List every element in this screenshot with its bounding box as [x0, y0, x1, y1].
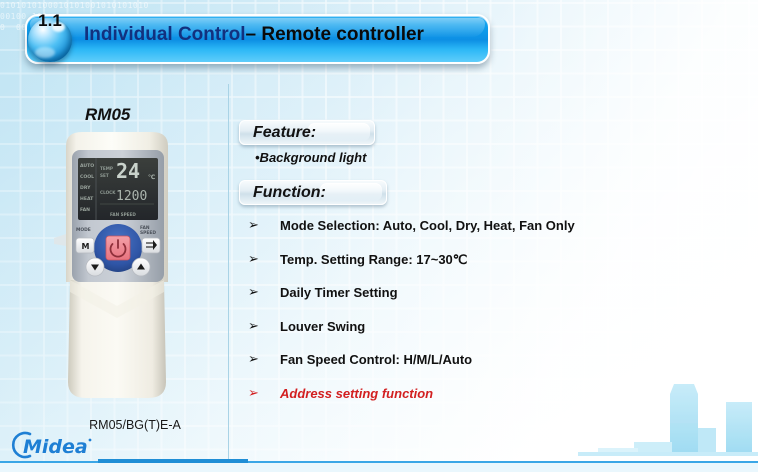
- svg-text:AUTO: AUTO: [80, 163, 94, 169]
- product-title: RM05: [85, 105, 130, 125]
- pill-gloss-highlight: [308, 123, 370, 141]
- page-title-secondary: – Remote controller: [246, 24, 424, 45]
- page-title-primary: Individual Control: [84, 24, 246, 45]
- function-list-item-label: Address setting function: [280, 386, 433, 402]
- feature-item: •Background light: [255, 150, 366, 165]
- svg-text:SET: SET: [100, 173, 109, 178]
- arrow-bullet-icon: ➢: [248, 285, 280, 301]
- slide-number: 1.1: [28, 11, 72, 31]
- column-divider: [228, 84, 229, 472]
- svg-text:TEMP: TEMP: [100, 166, 113, 171]
- function-list-item: ➢Mode Selection: Auto, Cool, Dry, Heat, …: [248, 218, 678, 252]
- function-list-item-label: Fan Speed Control: H/M/L/Auto: [280, 352, 472, 368]
- page-title: Individual Control– Remote controller: [84, 24, 424, 46]
- arrow-bullet-icon: ➢: [248, 252, 280, 268]
- arrow-bullet-icon: ➢: [248, 319, 280, 335]
- svg-text:CLOCK: CLOCK: [100, 190, 116, 195]
- footer-accent-tab: [98, 459, 248, 463]
- svg-text:MODE: MODE: [76, 227, 91, 233]
- arrow-bullet-icon: ➢: [248, 352, 280, 368]
- slide-canvas: 0101010100010101001010101010 00100 111 0…: [0, 0, 758, 472]
- svg-text:24: 24: [116, 159, 140, 183]
- svg-text:COOL: COOL: [80, 174, 94, 180]
- svg-text:Midea: Midea: [23, 436, 88, 458]
- svg-text:℃: ℃: [148, 174, 155, 181]
- svg-text:HEAT: HEAT: [80, 196, 94, 202]
- function-list-item: ➢Fan Speed Control: H/M/L/Auto: [248, 352, 678, 386]
- function-heading-label: Function:: [253, 184, 326, 202]
- svg-text:M: M: [82, 242, 90, 251]
- svg-text:FAN: FAN: [80, 207, 90, 213]
- function-list: ➢Mode Selection: Auto, Cool, Dry, Heat, …: [248, 218, 678, 419]
- function-list-item-label: Temp. Setting Range: 17~30℃: [280, 252, 467, 268]
- function-list-item: ➢Temp. Setting Range: 17~30℃: [248, 252, 678, 286]
- arrow-bullet-icon: ➢: [248, 386, 280, 402]
- function-list-item: ➢Louver Swing: [248, 319, 678, 353]
- pill-gloss-highlight: [320, 183, 382, 201]
- function-list-item: ➢Address setting function: [248, 386, 678, 420]
- svg-text:1200: 1200: [116, 189, 147, 204]
- footer-strip: [0, 463, 758, 472]
- function-list-item-label: Louver Swing: [280, 319, 365, 335]
- midea-logo: Midea: [10, 430, 110, 460]
- svg-text:DRY: DRY: [80, 185, 91, 191]
- function-list-item-label: Mode Selection: Auto, Cool, Dry, Heat, F…: [280, 218, 575, 234]
- function-list-item-label: Daily Timer Setting: [280, 285, 398, 301]
- remote-controller-image: AUTO COOL DRY HEAT FAN TEMP SET CLOCK FA…: [48, 130, 188, 405]
- feature-heading-pill: Feature:: [239, 120, 375, 145]
- function-list-item: ➢Daily Timer Setting: [248, 285, 678, 319]
- function-heading-pill: Function:: [239, 180, 387, 205]
- svg-text:FAN SPEED: FAN SPEED: [110, 212, 136, 217]
- svg-text:SPEED: SPEED: [140, 230, 156, 236]
- arrow-bullet-icon: ➢: [248, 218, 280, 234]
- feature-heading-label: Feature:: [253, 124, 316, 142]
